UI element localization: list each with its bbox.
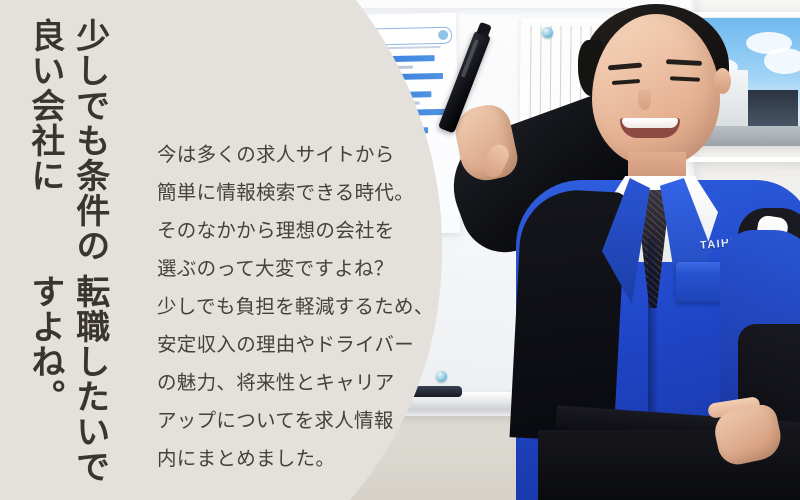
body-copy: 今は多くの求人サイトから 簡単に情報検索できる時代。 そのなかから理想の会社を … — [157, 136, 425, 478]
body-line: 内にまとめました。 — [157, 440, 425, 478]
body-line: アップについてを求人情報 — [157, 402, 425, 440]
headline-column-1: 少しでも条件の良い会社に — [22, 18, 112, 274]
body-line: 選ぶのって大変ですよね？ — [157, 250, 425, 288]
nose — [638, 90, 651, 110]
ear — [714, 68, 731, 94]
mouth — [620, 118, 680, 138]
poster-title-dot — [438, 30, 448, 40]
marker-tip — [476, 22, 492, 38]
body-line: 今は多くの求人サイトから — [157, 136, 425, 174]
body-line: そのなかから理想の会社を — [157, 212, 425, 250]
body-line: 安定収入の理由やドライバー — [157, 326, 425, 364]
jacket-black-panel-left — [510, 187, 627, 442]
banner-root: TAIHEI 少しでも条件の良い会社に 転職したいですよね。 今は多くの求人サイ… — [0, 0, 800, 500]
body-line: 少しでも負担を軽減するため、 — [157, 288, 425, 326]
page-title: 少しでも条件の良い会社に 転職したいですよね。 — [22, 18, 112, 488]
body-line: 簡単に情報検索できる時代。 — [157, 174, 425, 212]
body-line: の魅力、将来性とキャリア — [157, 364, 425, 402]
teeth — [622, 118, 678, 128]
headline-column-2: 転職したいですよね。 — [22, 274, 112, 488]
magnet-pin-icon — [436, 371, 447, 382]
instructor-figure: TAIHEI — [452, 0, 800, 500]
